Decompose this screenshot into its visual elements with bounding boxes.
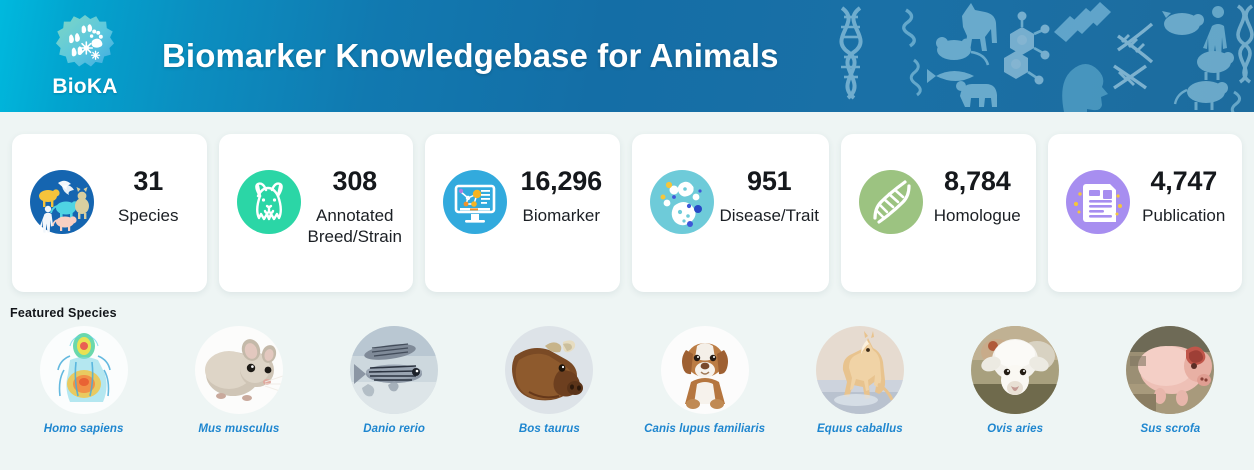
species-item-danio-rerio[interactable]: Danio rerio <box>317 326 472 435</box>
featured-species-section: Featured Species <box>0 306 1254 435</box>
species-name: Ovis aries <box>987 423 1043 435</box>
site-logo[interactable]: BioKA <box>30 13 140 99</box>
zebrafish-photo <box>350 326 438 414</box>
species-item-ovis-aries[interactable]: Ovis aries <box>938 326 1093 435</box>
dog-face-icon <box>231 164 307 240</box>
stat-card-biomarker[interactable]: 16,296 Biomarker <box>425 134 620 292</box>
stat-value: 16,296 <box>521 166 602 198</box>
stats-row: 31 Species 308 Annotate <box>0 112 1254 292</box>
featured-species-heading: Featured Species <box>10 306 1248 320</box>
stat-label: Biomarker <box>523 205 600 226</box>
stat-card-annotated-breed-strain[interactable]: 308 Annotated Breed/Strain <box>219 134 414 292</box>
species-item-sus-scrofa[interactable]: Sus scrofa <box>1093 326 1248 435</box>
species-name: Canis lupus familiaris <box>644 423 765 435</box>
stat-value: 8,784 <box>944 166 1011 198</box>
species-name: Danio rerio <box>363 423 425 435</box>
stat-label: Species <box>118 205 178 226</box>
cow-head-photo <box>505 326 593 414</box>
stat-card-publication[interactable]: 4,747 Publication <box>1048 134 1243 292</box>
sheep-photo <box>971 326 1059 414</box>
species-name: Mus musculus <box>198 423 279 435</box>
stat-card-homologue[interactable]: 8,784 Homologue <box>841 134 1036 292</box>
species-item-canis-lupus-familiaris[interactable]: Canis lupus familiaris <box>627 326 782 435</box>
stat-value: 4,747 <box>1150 166 1217 198</box>
stat-label: Homologue <box>934 205 1021 226</box>
site-header: BioKA Biomarker Knowledgebase for Animal… <box>0 0 1254 112</box>
dna-helix-icon <box>853 164 929 240</box>
stat-label: Disease/Trait <box>720 205 820 226</box>
document-icon <box>1060 164 1136 240</box>
mouse-photo <box>195 326 283 414</box>
stat-card-species[interactable]: 31 Species <box>12 134 207 292</box>
stat-value: 31 <box>133 166 163 198</box>
species-item-homo-sapiens[interactable]: Homo sapiens <box>6 326 161 435</box>
species-name: Bos taurus <box>519 423 580 435</box>
species-item-equus-caballus[interactable]: Equus caballus <box>782 326 937 435</box>
stat-label: Annotated Breed/Strain <box>307 205 404 248</box>
species-name: Sus scrofa <box>1140 423 1200 435</box>
monitor-network-icon <box>437 164 513 240</box>
species-circle-icon <box>24 164 100 240</box>
logo-wordmark: BioKA <box>52 75 117 99</box>
puppy-photo <box>661 326 749 414</box>
species-item-bos-taurus[interactable]: Bos taurus <box>472 326 627 435</box>
human-anatomy-photo <box>40 326 128 414</box>
species-item-mus-musculus[interactable]: Mus musculus <box>161 326 316 435</box>
stat-value: 308 <box>333 166 377 198</box>
species-name: Homo sapiens <box>44 423 124 435</box>
cell-cluster-icon <box>644 164 720 240</box>
species-row: Homo sapiens <box>6 326 1248 435</box>
horse-photo <box>816 326 904 414</box>
stat-label: Publication <box>1142 205 1225 226</box>
page-title: Biomarker Knowledgebase for Animals <box>162 37 779 75</box>
species-name: Equus caballus <box>817 423 903 435</box>
stat-value: 951 <box>747 166 791 198</box>
stat-card-disease-trait[interactable]: 951 Disease/Trait <box>632 134 830 292</box>
pig-photo <box>1126 326 1214 414</box>
bioka-blob-logo-icon <box>52 13 118 79</box>
